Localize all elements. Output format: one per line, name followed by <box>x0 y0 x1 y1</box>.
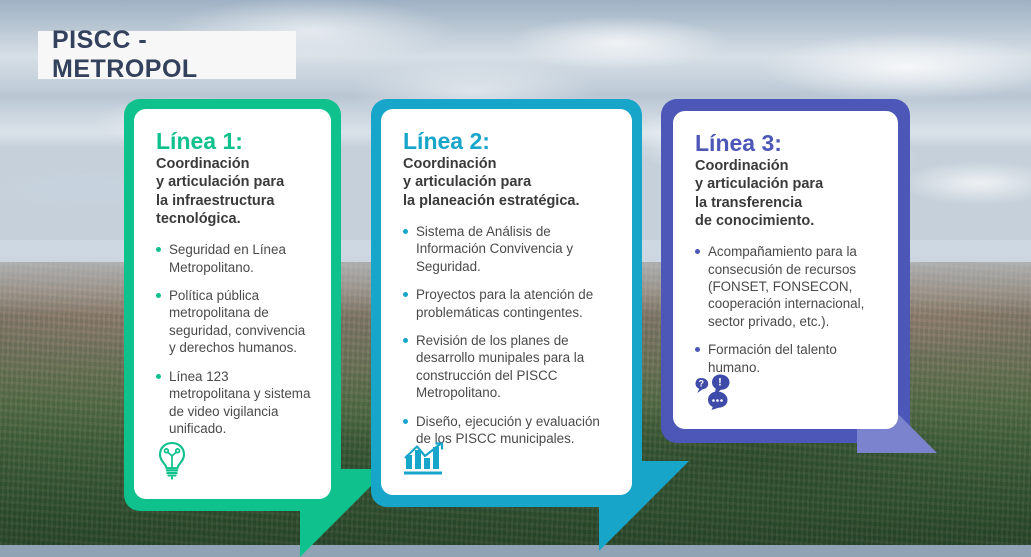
svg-text:!: ! <box>718 377 722 389</box>
lightbulb-icon <box>156 440 188 485</box>
card-body-linea-1: Línea 1: Coordinación y articulación par… <box>134 109 331 499</box>
card-title-linea-3: Línea 3: <box>695 131 880 155</box>
bullet-list-linea-2: Sistema de Análisis de Información Convi… <box>403 223 614 448</box>
card-title-linea-2: Línea 2: <box>403 129 614 153</box>
list-item: Política pública metropolitana de seguri… <box>156 287 313 357</box>
list-item: Formación del talento humano. <box>695 341 880 376</box>
list-item: Proyectos para la atención de problemáti… <box>403 286 614 321</box>
title-plaque: PISCC - METROPOL <box>38 31 296 79</box>
card-linea-3: Línea 3: Coordinación y articulación par… <box>661 99 910 443</box>
list-item: Revisión de los planes de desarrollo mun… <box>403 332 614 402</box>
list-item: Sistema de Análisis de Información Convi… <box>403 223 614 275</box>
card-subtitle-linea-3: Coordinación y articulación para la tran… <box>695 157 880 230</box>
card-title-linea-1: Línea 1: <box>156 129 313 153</box>
svg-text:?: ? <box>699 379 705 389</box>
card-linea-2: Línea 2: Coordinación y articulación par… <box>371 99 642 507</box>
list-item: Seguridad en Línea Metropolitano. <box>156 241 313 276</box>
speech-bubbles-icon: ! ? <box>695 374 733 415</box>
page-title: PISCC - METROPOL <box>52 26 296 84</box>
bar-chart-growth-icon <box>403 442 445 481</box>
list-item: Acompañamiento para la consecusión de re… <box>695 243 880 330</box>
card-subtitle-linea-2: Coordinación y articulación para la plan… <box>403 155 614 210</box>
card-body-linea-3: Línea 3: Coordinación y articulación par… <box>673 111 898 429</box>
list-item: Línea 123 metropolitana y sistema de vid… <box>156 368 313 438</box>
bullet-list-linea-3: Acompañamiento para la consecusión de re… <box>695 243 880 376</box>
card-subtitle-linea-1: Coordinación y articulación para la infr… <box>156 155 313 228</box>
card-linea-1: Línea 1: Coordinación y articulación par… <box>124 99 341 511</box>
card-body-linea-2: Línea 2: Coordinación y articulación par… <box>381 109 632 495</box>
bullet-list-linea-1: Seguridad en Línea Metropolitano. Políti… <box>156 241 313 437</box>
